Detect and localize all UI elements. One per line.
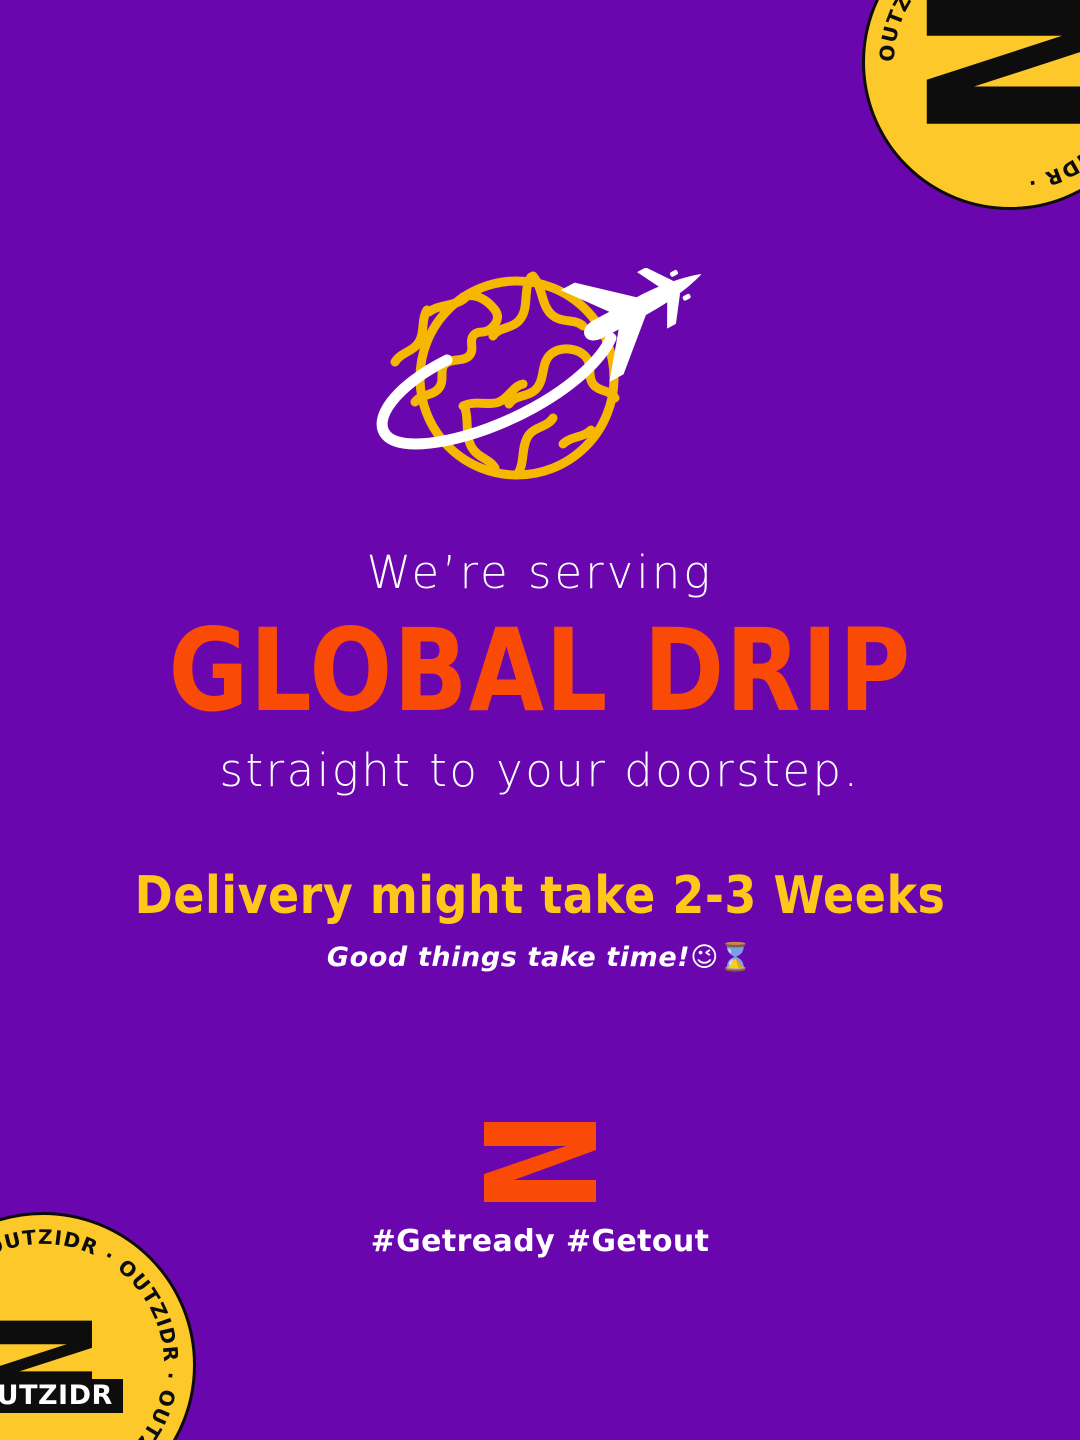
badge-core-top-right: OUTZIDR (917, 0, 1080, 163)
reassurance-line: Good things take time!😉⌛ (0, 942, 1080, 974)
outzidr-z-logo-icon (917, 0, 1080, 163)
copy-block: We’re serving GLOBAL DRIP straight to yo… (0, 548, 1080, 975)
eyebrow-text: We’re serving (0, 548, 1080, 598)
outzidr-z-logo-icon (478, 1118, 602, 1206)
globe-with-airplane-icon (365, 268, 715, 500)
badge-bottom-left: OUTZIDR · OUTZIDR · OUTZIDR · OUTZIDR · … (0, 1212, 196, 1440)
hero-illustration (0, 268, 1080, 500)
badge-core-bottom-left: OUTZIDR (0, 1317, 136, 1413)
badge-top-right: OUTZIDR · OUTZIDR · OUTZIDR · OUTZIDR · … (862, 0, 1080, 210)
wink-hourglass-emoji: 😉⌛ (690, 942, 753, 973)
subhead-text: straight to your doorstep. (0, 746, 1080, 796)
poster-canvas: OUTZIDR · OUTZIDR · OUTZIDR · OUTZIDR · … (0, 0, 1080, 1440)
badge-wordmark-bottom-left: OUTZIDR (0, 1379, 123, 1413)
delivery-note-text: Delivery might take 2-3 Weeks (0, 867, 1080, 924)
reassurance-text: Good things take time! (327, 942, 690, 973)
headline-text: GLOBAL DRIP (0, 612, 1080, 732)
hashtags-text: #Getready #Getout (371, 1224, 710, 1259)
